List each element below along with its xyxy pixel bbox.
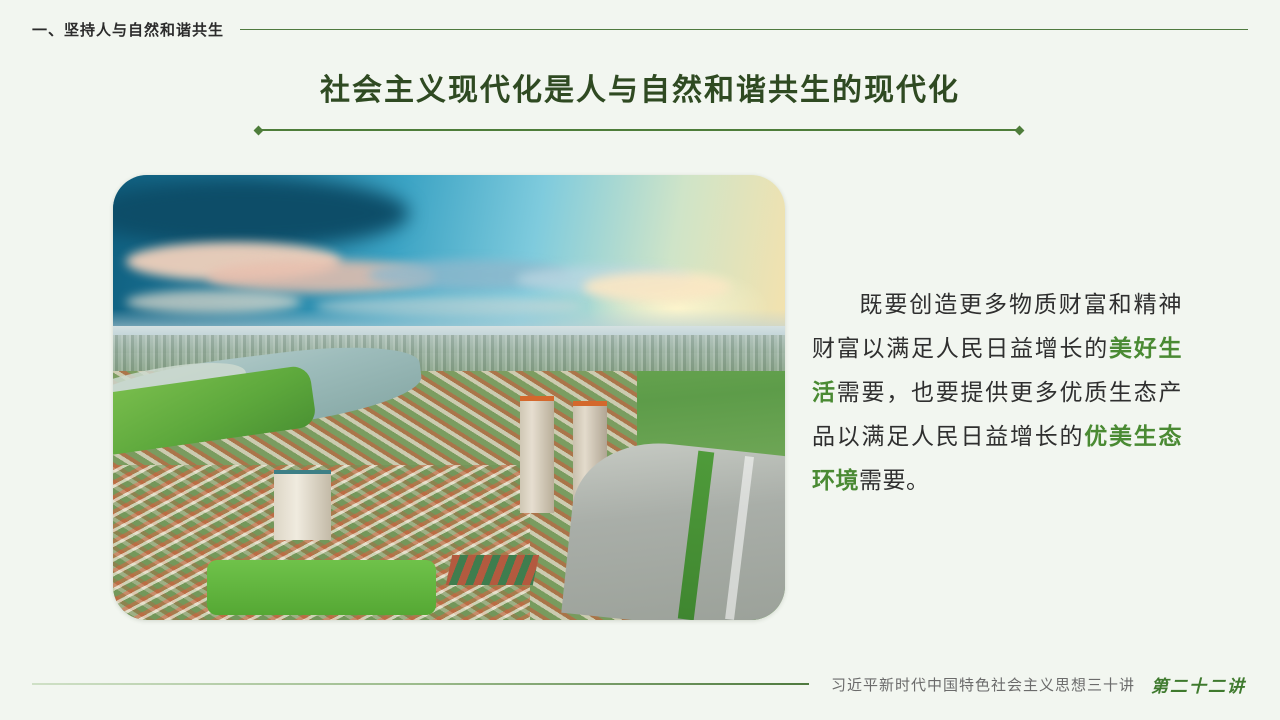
diamond-right-icon [1015, 125, 1025, 135]
footer-lecture-number: 第二十二讲 [1151, 672, 1246, 697]
page-title-block: 社会主义现代化是人与自然和谐共生的现代化 [0, 70, 1280, 112]
title-underline-decoration [255, 124, 1023, 136]
photo-sky [113, 175, 785, 326]
photo-tower-small [274, 470, 331, 540]
footer-divider-line [32, 683, 809, 685]
slide: 一、坚持人与自然和谐共生 社会主义现代化是人与自然和谐共生的现代化 [0, 0, 1280, 720]
page-title: 社会主义现代化是人与自然和谐共生的现代化 [0, 70, 1280, 112]
body-line-5-post: 需要。 [859, 467, 930, 493]
body-line-3-post: 需要，也要提供更 [837, 379, 1035, 405]
photo-sports-courts [446, 555, 540, 585]
photo-green-park [207, 560, 435, 615]
body-paragraph: 既要创造更多物质财富和精神财富以满足人民日益增长的美好生活需要，也要提供更多优质… [812, 282, 1182, 502]
body-line-1: 既要创造更多物质财富和 [858, 291, 1134, 317]
cityscape-photo [113, 175, 785, 620]
body-line-3-pre: 的 [1084, 335, 1109, 361]
title-underline-line [262, 129, 1016, 131]
body-line-5-pre: 益增长的 [985, 423, 1084, 449]
footer-book-title: 习近平新时代中国特色社会主义思想三十讲 [831, 674, 1135, 695]
diamond-left-icon [254, 125, 264, 135]
slide-footer: 习近平新时代中国特色社会主义思想三十讲 第二十二讲 [0, 670, 1280, 698]
slide-header: 一、坚持人与自然和谐共生 [32, 14, 1248, 44]
cloud-shape [113, 178, 409, 248]
section-label: 一、坚持人与自然和谐共生 [32, 19, 224, 40]
header-divider-line [240, 29, 1248, 30]
photo-tower-left [520, 396, 555, 513]
cloud-shape [583, 272, 731, 302]
